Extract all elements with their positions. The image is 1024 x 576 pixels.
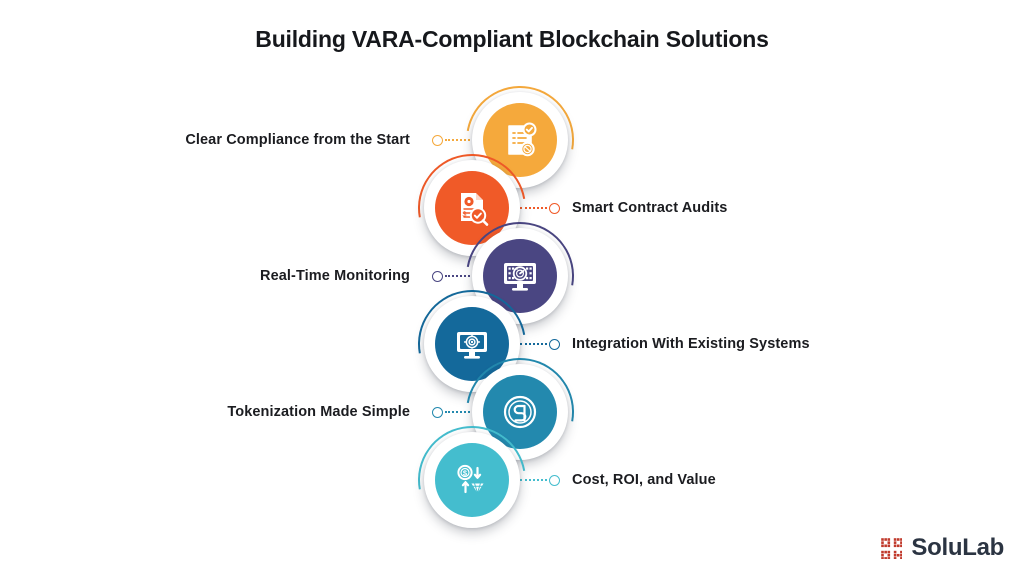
node-label: Smart Contract Audits xyxy=(572,197,822,219)
infographic-canvas: Building VARA-Compliant Blockchain Solut… xyxy=(0,0,1024,576)
connector-endpoint-icon xyxy=(549,203,560,214)
node-label: Real-Time Monitoring xyxy=(60,265,410,287)
connector-endpoint-icon xyxy=(549,475,560,486)
connector-endpoint-icon xyxy=(432,135,443,146)
svg-text:$: $ xyxy=(463,212,467,219)
solulab-mark-icon xyxy=(880,537,902,559)
connector-endpoint-icon xyxy=(432,407,443,418)
node-label: Integration With Existing Systems xyxy=(572,333,822,355)
brand-logo: SoluLab xyxy=(880,534,1004,562)
page-title: Building VARA-Compliant Blockchain Solut… xyxy=(0,26,1024,53)
brand-name: SoluLab xyxy=(911,534,1004,562)
node-disc: $ xyxy=(435,443,509,517)
connector-endpoint-icon xyxy=(549,339,560,350)
process-node[interactable]: $ xyxy=(424,432,520,528)
node-label: Clear Compliance from the Start xyxy=(60,129,410,151)
monitor-gauge-icon xyxy=(500,256,540,296)
monitor-integration-icon xyxy=(452,324,492,364)
node-label: Cost, ROI, and Value xyxy=(572,469,822,491)
compliance-document-icon xyxy=(500,120,540,160)
cost-value-exchange-icon: $ xyxy=(452,460,492,500)
node-label: Tokenization Made Simple xyxy=(60,401,410,423)
connector-endpoint-icon xyxy=(432,271,443,282)
token-coin-icon xyxy=(500,392,540,432)
contract-audit-icon: $ xyxy=(452,188,492,228)
